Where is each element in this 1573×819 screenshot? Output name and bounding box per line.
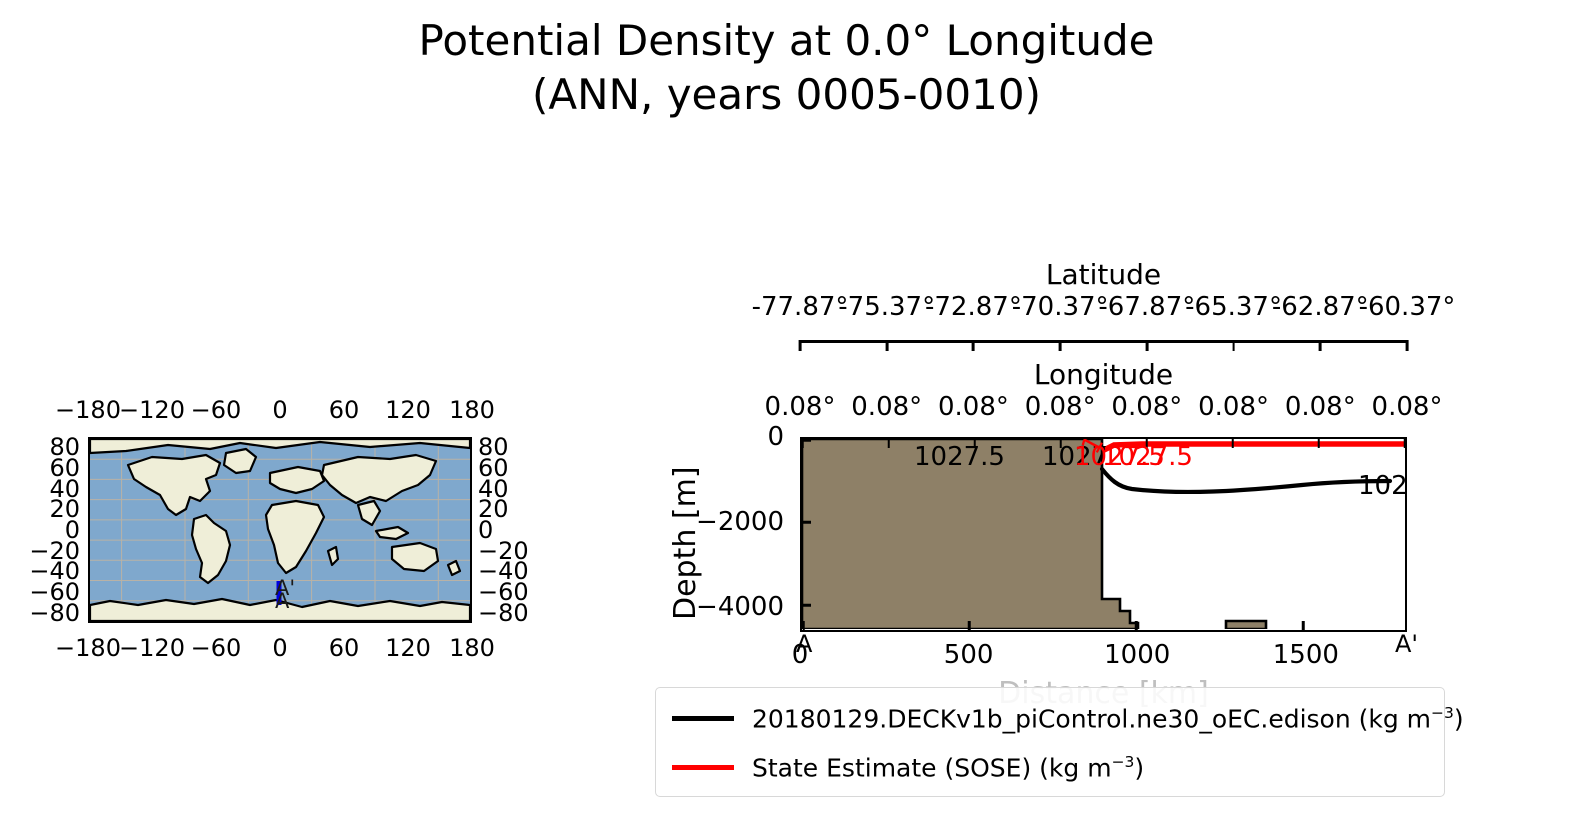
x-tick-top-6 xyxy=(1318,439,1321,448)
longitude-tick-0: 0.08° xyxy=(765,392,836,422)
map-x-tick-top-4: 60 xyxy=(329,396,360,424)
latitude-tickmark-3 xyxy=(1059,340,1062,351)
longitude-tick-4: 0.08° xyxy=(1111,392,1182,422)
map-x-tick-top-0: −180 xyxy=(55,396,121,424)
bathymetry-seamount xyxy=(1226,621,1266,629)
latitude-tickmark-4 xyxy=(1145,340,1148,351)
latitude-tick-2: -72.87° xyxy=(925,292,1022,322)
landmass-africa xyxy=(266,501,324,573)
map-x-tick-bottom-6: 180 xyxy=(449,634,495,662)
landmass-australia xyxy=(392,543,438,571)
longitude-tick-3: 0.08° xyxy=(1025,392,1096,422)
world-map[interactable]: A' A xyxy=(88,437,472,623)
landmass-arctic xyxy=(90,439,470,453)
latitude-tickmark-5 xyxy=(1232,340,1235,351)
landmass-new-zealand xyxy=(448,561,460,575)
x-tick-top-1 xyxy=(888,439,891,448)
map-y-axis-right-ticks: 806040200−20−40−60−80 xyxy=(478,437,534,623)
endpoint-label-a: A xyxy=(796,630,812,658)
latitude-tick-7: -60.37° xyxy=(1359,292,1456,322)
contour-label-model-c: 1027 xyxy=(1358,471,1407,501)
longitude-tick-6: 0.08° xyxy=(1285,392,1356,422)
x-tick-bottom-1000 xyxy=(1135,621,1138,630)
depth-tick-2: −4000 xyxy=(696,592,784,622)
latitude-tickmark-1 xyxy=(885,340,888,351)
legend-label-model: 20180129.DECKv1b_piControl.ne30_oEC.edis… xyxy=(752,704,1464,733)
latitude-tick-5: -65.37° xyxy=(1185,292,1282,322)
latitude-tick-3: -70.37° xyxy=(1012,292,1109,322)
map-x-tick-bottom-1: −120 xyxy=(119,634,185,662)
latitude-tick-labels: -77.87°-75.37°-72.87°-70.37°-67.87°-65.3… xyxy=(800,292,1407,322)
latitude-tickmark-7 xyxy=(1406,340,1409,351)
map-endpoint-label-a: A xyxy=(275,591,289,612)
landmass-asia xyxy=(322,455,436,503)
landmass-madagascar xyxy=(328,547,338,565)
map-x-tick-top-2: −60 xyxy=(191,396,242,424)
longitude-tick-1: 0.08° xyxy=(851,392,922,422)
distance-tick-2: 1000 xyxy=(1104,640,1170,670)
distance-tick-1: 500 xyxy=(944,640,994,670)
latitude-tickmark-0 xyxy=(799,340,802,351)
x-tick-top-5 xyxy=(1232,439,1235,448)
contour-label-sose-c: 1027.5 xyxy=(1102,442,1193,472)
transect-axes[interactable]: 1027.5 1027 1027 1027.5 1027.5 1027 xyxy=(800,437,1407,632)
longitude-tick-5: 0.08° xyxy=(1198,392,1269,422)
map-x-tick-bottom-2: −60 xyxy=(191,634,242,662)
longitude-tick-labels: 0.08°0.08°0.08°0.08°0.08°0.08°0.08°0.08° xyxy=(800,392,1407,422)
legend-swatch-sose-icon xyxy=(672,765,734,771)
endpoint-label-aprime: A' xyxy=(1395,630,1418,658)
x-tick-top-7 xyxy=(1404,439,1407,448)
depth-tick-0: 0 xyxy=(767,422,784,452)
legend-entry-model[interactable]: 20180129.DECKv1b_piControl.ne30_oEC.edis… xyxy=(672,704,1464,733)
landmass-south-america xyxy=(192,515,230,583)
legend-swatch-model-icon xyxy=(672,716,734,722)
distance-tick-labels: 050010001500 xyxy=(800,640,1407,674)
latitude-tick-6: -62.87° xyxy=(1272,292,1369,322)
landmass-indonesia xyxy=(376,527,408,539)
y-tick-4000 xyxy=(802,604,811,607)
x-tick-bottom-500 xyxy=(968,621,971,630)
latitude-tick-4: -67.87° xyxy=(1098,292,1195,322)
map-x-tick-top-5: 120 xyxy=(385,396,431,424)
map-y-tick-left-8: −80 xyxy=(29,599,80,627)
depth-tick-labels: 0−2000−4000 xyxy=(700,437,792,632)
map-x-tick-bottom-5: 120 xyxy=(385,634,431,662)
x-tick-bottom-1500 xyxy=(1302,621,1305,630)
latitude-tick-0: -77.87° xyxy=(752,292,849,322)
contour-label-model-a: 1027.5 xyxy=(914,442,1005,472)
legend-entry-sose[interactable]: State Estimate (SOSE) (kg m−3) xyxy=(672,753,1144,782)
map-x-tick-top-3: 0 xyxy=(272,396,287,424)
latitude-tick-1: -75.37° xyxy=(838,292,935,322)
latitude-axis-spine xyxy=(800,340,1407,354)
landmass-north-america xyxy=(128,455,220,515)
map-y-tick-right-8: −80 xyxy=(478,599,529,627)
legend-label-sose: State Estimate (SOSE) (kg m−3) xyxy=(752,753,1144,782)
map-x-tick-top-1: −120 xyxy=(119,396,185,424)
map-frame: A' A xyxy=(88,437,472,623)
x-tick-bottom-0 xyxy=(802,621,805,630)
map-y-axis-left-ticks: 806040200−20−40−60−80 xyxy=(34,437,84,623)
map-x-tick-bottom-3: 0 xyxy=(272,634,287,662)
legend: 20180129.DECKv1b_piControl.ne30_oEC.edis… xyxy=(655,687,1445,797)
title-line-1: Potential Density at 0.0° Longitude xyxy=(0,14,1573,68)
distance-tick-3: 1500 xyxy=(1273,640,1339,670)
map-x-tick-top-6: 180 xyxy=(449,396,495,424)
contour-model-1027-5 xyxy=(1102,469,1390,492)
title-line-2: (ANN, years 0005-0010) xyxy=(0,68,1573,122)
latitude-axis-title: Latitude xyxy=(800,258,1407,291)
latitude-tickmark-6 xyxy=(1319,340,1322,351)
landmass-india xyxy=(358,501,380,525)
landmass-greenland xyxy=(224,449,256,473)
longitude-tick-2: 0.08° xyxy=(938,392,1009,422)
latitude-tickmark-2 xyxy=(972,340,975,351)
depth-tick-1: −2000 xyxy=(696,507,784,537)
longitude-axis-title: Longitude xyxy=(800,358,1407,391)
landmass-europe xyxy=(270,467,324,493)
map-x-tick-bottom-4: 60 xyxy=(329,634,360,662)
transect-frame: 1027.5 1027 1027 1027.5 1027.5 1027 xyxy=(800,437,1407,632)
map-x-tick-bottom-0: −180 xyxy=(55,634,121,662)
longitude-tick-7: 0.08° xyxy=(1372,392,1443,422)
page-title: Potential Density at 0.0° Longitude (ANN… xyxy=(0,14,1573,122)
y-tick-0 xyxy=(802,439,811,442)
y-tick-2000 xyxy=(802,521,811,524)
